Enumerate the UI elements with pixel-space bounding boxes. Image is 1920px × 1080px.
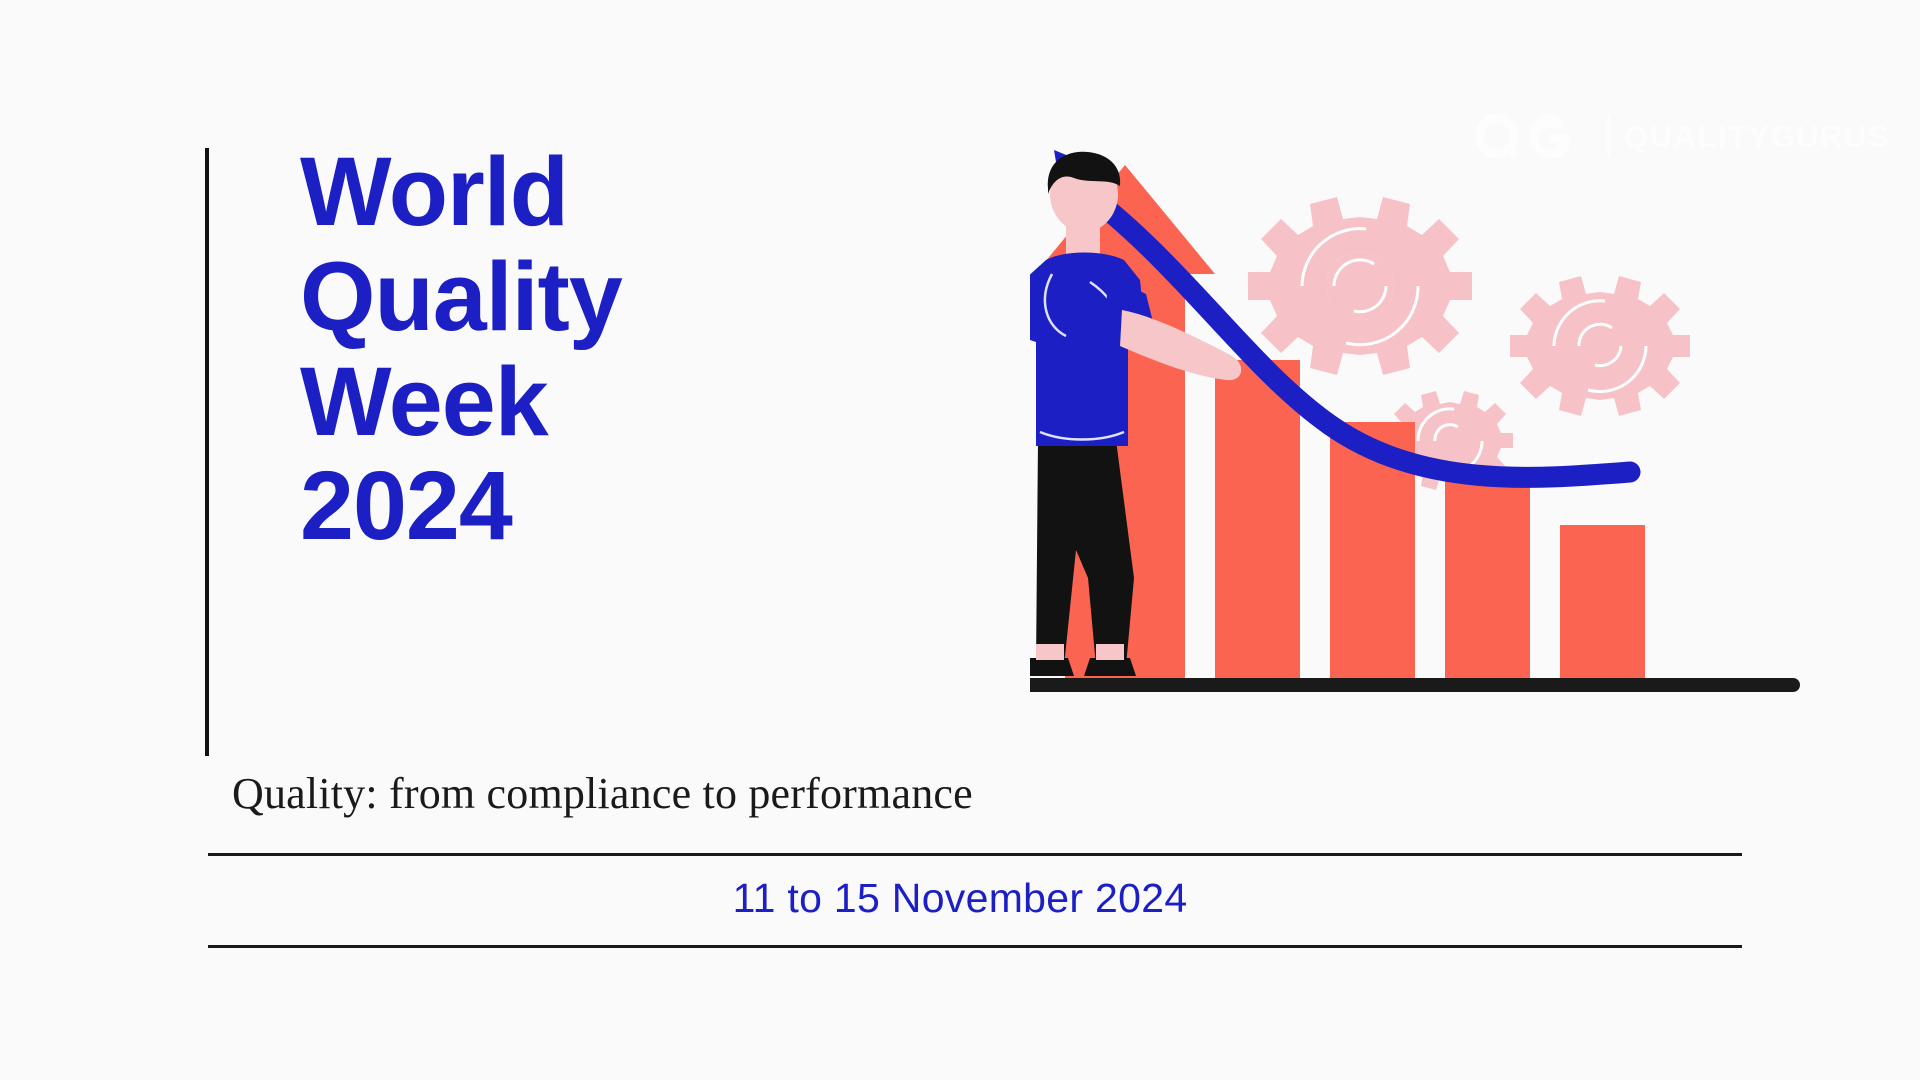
person-shoe-left (1030, 658, 1074, 676)
title-vertical-rule (205, 148, 209, 756)
divider-top (208, 853, 1742, 856)
person-ankle-right (1096, 644, 1124, 660)
event-dates: 11 to 15 November 2024 (0, 875, 1920, 922)
gears-icon (1248, 197, 1690, 490)
bar-2 (1215, 360, 1300, 678)
page-title: World Quality Week 2024 (300, 140, 860, 559)
title-line-4: 2024 (300, 454, 860, 559)
poster-canvas: QUALITYGURUS World Quality Week 2024 (0, 0, 1920, 1080)
bar-4 (1445, 480, 1530, 678)
title-line-2: Quality (300, 245, 860, 350)
title-line-1: World (300, 140, 860, 245)
tagline: Quality: from compliance to performance (232, 768, 973, 819)
bar-5 (1560, 525, 1645, 678)
divider-bottom (208, 945, 1742, 948)
title-line-3: Week (300, 350, 860, 455)
brand-text: QUALITYGURUS (1624, 121, 1890, 152)
person-ankle-left (1036, 644, 1064, 660)
person-shoe-right (1084, 658, 1136, 676)
illustration (1030, 150, 1800, 740)
baseline-ground (1030, 678, 1800, 692)
